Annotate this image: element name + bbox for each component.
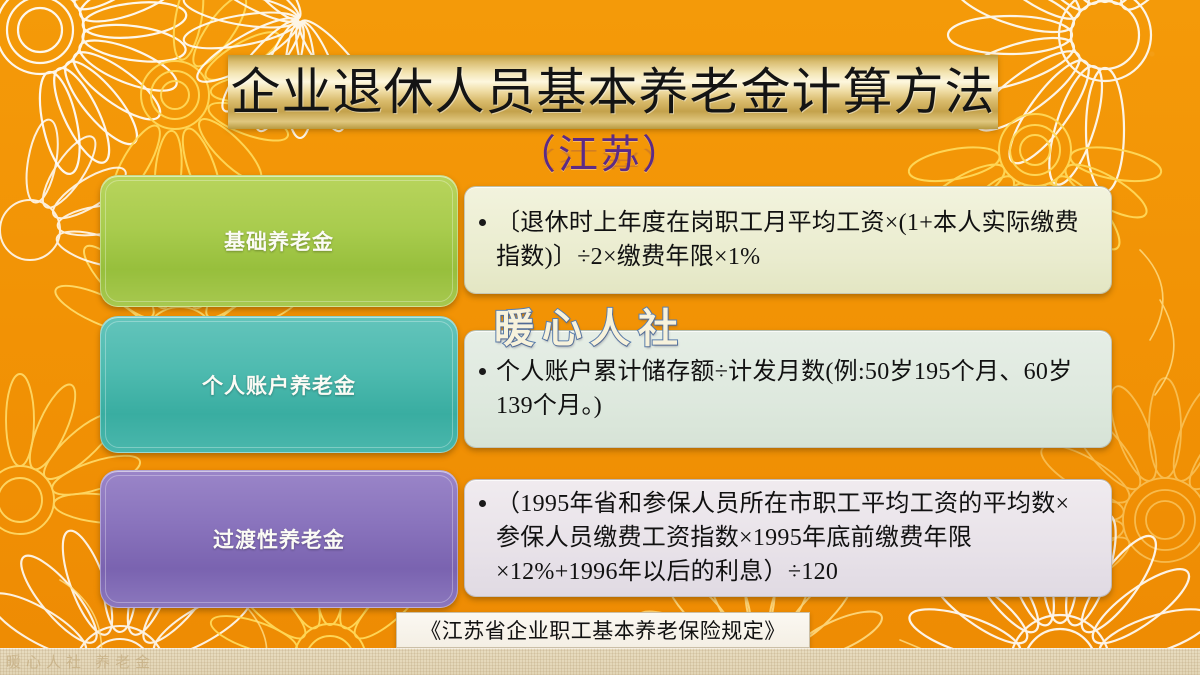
category-label-text: 过渡性养老金: [213, 524, 345, 554]
category-label-transitional-pension[interactable]: 过渡性养老金: [100, 470, 458, 608]
bottom-linen-strip: 暖心人社 养老金: [0, 648, 1200, 675]
category-label-text: 基础养老金: [224, 226, 334, 256]
slide-subtitle: （江苏）: [516, 122, 684, 180]
formula-bullet-line: （1995年省和参保人员所在市职工平均工资的平均数×参保人员缴费工资指数×199…: [479, 487, 1093, 589]
bullet-dot-icon: [479, 219, 486, 226]
formula-bullet-line: 〔退休时上年度在岗职工月平均工资×(1+本人实际缴费指数)〕÷2×缴费年限×1%: [479, 206, 1093, 274]
slide-title-bar: 企业退休人员基本养老金计算方法: [228, 55, 998, 129]
page-title: 企业退休人员基本养老金计算方法: [231, 67, 996, 117]
brand-watermark: 暖心人社: [494, 296, 686, 354]
category-label-basic-pension[interactable]: 基础养老金: [100, 175, 458, 307]
bullet-dot-icon: [479, 368, 486, 375]
formula-text: （1995年省和参保人员所在市职工平均工资的平均数×参保人员缴费工资指数×199…: [496, 487, 1093, 589]
formula-text: 个人账户累计储存额÷计发月数(例:50岁195个月、60岁139个月。): [496, 355, 1093, 423]
formula-box-basic-pension: 〔退休时上年度在岗职工月平均工资×(1+本人实际缴费指数)〕÷2×缴费年限×1%: [464, 186, 1112, 294]
source-caption-box: 《江苏省企业职工基本养老保险规定》: [396, 612, 810, 648]
strip-watermark-text: 暖心人社 养老金: [6, 651, 155, 672]
bullet-dot-icon: [479, 500, 486, 507]
category-label-text: 个人账户养老金: [202, 370, 356, 400]
formula-box-transitional-pension: （1995年省和参保人员所在市职工平均工资的平均数×参保人员缴费工资指数×199…: [464, 479, 1112, 597]
formula-text: 〔退休时上年度在岗职工月平均工资×(1+本人实际缴费指数)〕÷2×缴费年限×1%: [496, 206, 1093, 274]
slide-subtitle-reflection: （江苏）: [0, 144, 1200, 176]
source-caption-text: 《江苏省企业职工基本养老保险规定》: [420, 615, 786, 645]
category-label-personal-account-pension[interactable]: 个人账户养老金: [100, 316, 458, 453]
formula-bullet-line: 个人账户累计储存额÷计发月数(例:50岁195个月、60岁139个月。): [479, 355, 1093, 423]
slide-canvas: 企业退休人员基本养老金计算方法 （江苏） （江苏） 基础养老金 〔退休时上年度在…: [0, 0, 1200, 675]
